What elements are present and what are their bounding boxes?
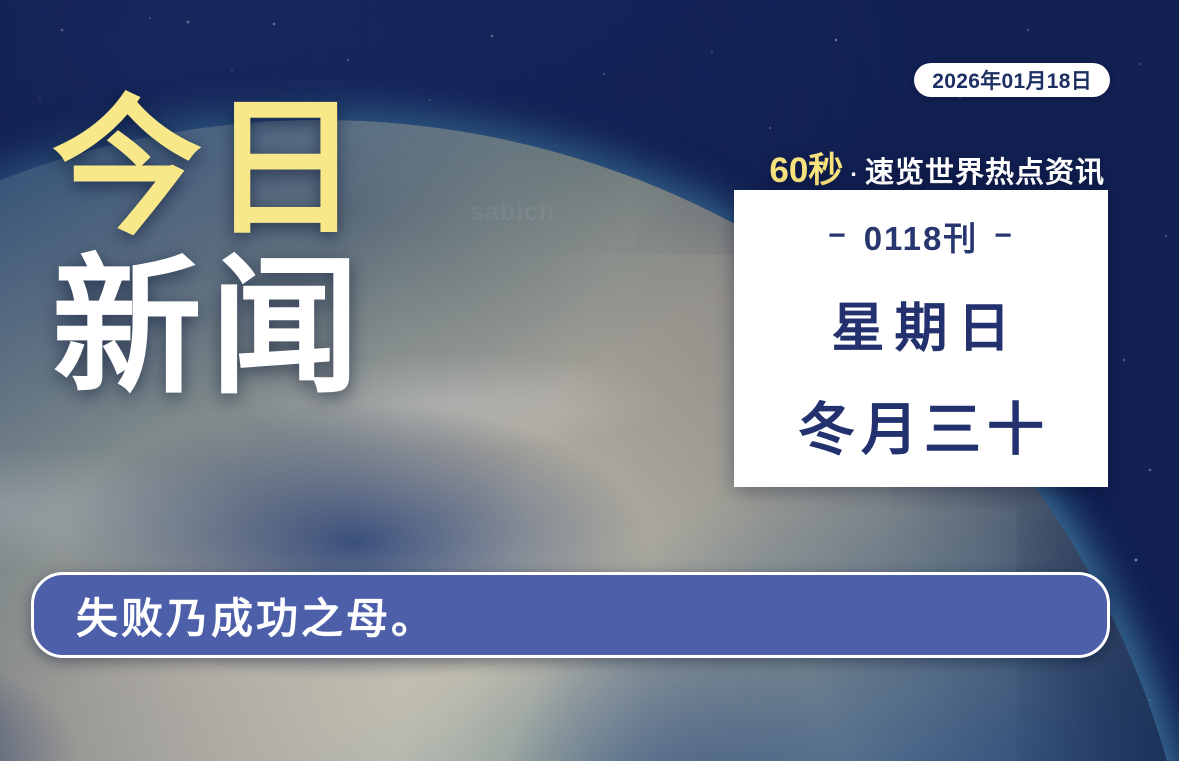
tagline: 60秒 · 速览世界热点资讯: [769, 142, 1105, 193]
quote-bar: 失败乃成功之母。: [31, 572, 1110, 658]
issue-dash-left-icon: −: [828, 219, 848, 253]
title-line-today: 今日: [52, 96, 368, 243]
weekday-label: 星期日: [822, 286, 1021, 362]
title-line-news: 新闻: [52, 255, 368, 402]
lunar-date-label: 冬月三十: [792, 384, 1050, 466]
masthead-title: 今日 新闻: [52, 96, 368, 402]
quote-text: 失败乃成功之母。: [76, 585, 436, 646]
issue-dash-right-icon: −: [994, 219, 1014, 253]
issue-number: 0118刊: [864, 212, 979, 260]
issue-row: − 0118刊 −: [828, 212, 1014, 260]
date-info-card: − 0118刊 − 星期日 冬月三十: [734, 190, 1108, 487]
date-badge: 2026年01月18日: [914, 63, 1110, 97]
tagline-separator-icon: ·: [848, 161, 860, 188]
watermark: sabich: [470, 198, 555, 227]
tagline-seconds: 60秒: [769, 142, 843, 193]
news-poster: sabich 今日 新闻 2026年01月18日 60秒 · 速览世界热点资讯 …: [0, 0, 1179, 761]
tagline-text: 速览世界热点资讯: [865, 149, 1105, 191]
